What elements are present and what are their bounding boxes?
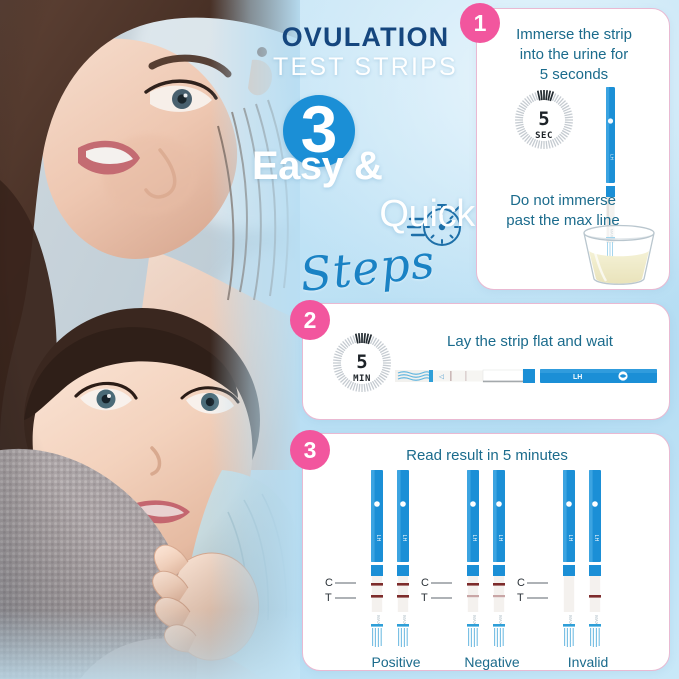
mother-and-baby-photo — [0, 0, 300, 679]
step-1-badge: 1 — [460, 3, 500, 43]
brand-title-line2: TEST STRIPS — [258, 51, 473, 85]
strip-lh-label: LH — [573, 374, 582, 381]
test-tag: T — [421, 592, 428, 604]
control-tag: C — [421, 577, 429, 589]
result-groups: C T LH — [303, 470, 671, 670]
ct-tags-invalid: C T — [515, 574, 549, 613]
result-strips-positive: LH MAX — [365, 470, 427, 653]
svg-text:LH: LH — [375, 535, 381, 542]
test-strip-flat-icon: ◁ LH — [395, 366, 657, 391]
step-2-badge: 2 — [290, 300, 330, 340]
result-strip: LH MAX — [563, 470, 575, 647]
timer-5-minutes-icon: 5 MIN — [331, 332, 393, 399]
step-2-title: Lay the strip flat and wait — [399, 332, 661, 352]
timer-5-seconds-icon: 5 SEC — [513, 89, 575, 156]
headline-block: OVULATION TEST STRIPS 3 Easy & — [258, 24, 473, 284]
result-label-invalid: Invalid — [529, 654, 647, 670]
result-strip: LH MAX — [397, 470, 409, 647]
svg-text:MAX: MAX — [376, 615, 381, 625]
timer-value-1: 5 — [538, 108, 549, 130]
svg-text:MAX: MAX — [594, 615, 599, 625]
control-tag: C — [517, 577, 525, 589]
easy-word: Easy & — [252, 144, 382, 189]
test-tag: T — [325, 592, 332, 604]
three-easy-quick-steps: 3 Easy & — [258, 91, 473, 241]
step-1-title: Immerse the strip into the urine for 5 s… — [489, 25, 659, 85]
result-strip: LH MAX — [493, 470, 505, 647]
svg-text:LH: LH — [471, 535, 477, 542]
svg-text:LH: LH — [497, 535, 503, 542]
result-strips-negative: LH MAX — [461, 470, 523, 653]
svg-text:LH: LH — [593, 535, 599, 542]
svg-text:MAX: MAX — [402, 615, 407, 625]
control-tag: C — [325, 577, 333, 589]
step-3-badge: 3 — [290, 430, 330, 470]
result-strip: LH MAX — [467, 470, 479, 647]
ct-tags-negative: C T — [419, 574, 453, 613]
poster-root: OVULATION TEST STRIPS 3 Easy & — [0, 0, 679, 679]
result-strips-invalid: LH MAX — [557, 470, 619, 653]
svg-text:MAX: MAX — [498, 615, 503, 625]
svg-text:LH: LH — [401, 535, 407, 542]
step-2-card: 5 MIN Lay the strip flat and wait — [302, 303, 670, 420]
steps-word: Steps — [298, 234, 438, 302]
svg-text:LH: LH — [610, 154, 615, 160]
step-3-title: Read result in 5 minutes — [313, 446, 661, 466]
quick-word: Quick — [379, 193, 475, 236]
result-strip: LH MAX — [589, 470, 601, 647]
urine-sample-cup-icon — [580, 225, 658, 292]
timer-value-2: 5 — [356, 351, 367, 373]
ct-tags-positive: C T — [323, 574, 357, 613]
result-group-invalid: C T LH — [529, 470, 647, 670]
result-strip: LH MAX — [371, 470, 383, 647]
svg-text:MAX: MAX — [472, 615, 477, 625]
svg-text:MAX: MAX — [568, 615, 573, 625]
timer-unit-2: MIN — [353, 374, 371, 384]
svg-text:LH: LH — [567, 535, 573, 542]
step-1-card: Immerse the strip into the urine for 5 s… — [476, 8, 670, 290]
step-3-card: Read result in 5 minutes C T — [302, 433, 670, 671]
timer-unit-1: SEC — [535, 131, 553, 141]
test-tag: T — [517, 592, 524, 604]
brand-title-line1: OVULATION — [258, 24, 473, 51]
